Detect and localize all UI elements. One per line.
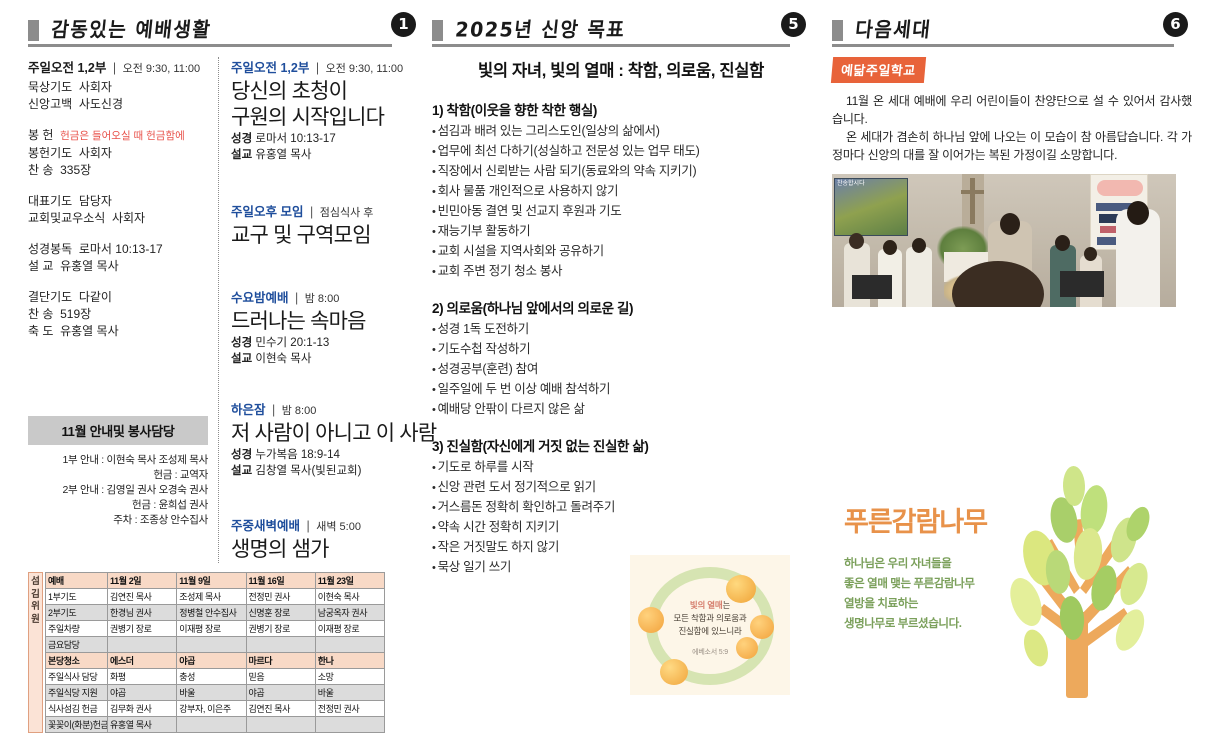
table-cell: 신명훈 장로 — [246, 605, 315, 621]
table-row: 식사섬김 헌금 김무화 권사 강부자, 이은주 김연진 목사 전정민 권사 — [46, 701, 385, 717]
section-title: 2025년 신앙 목표 — [454, 14, 627, 43]
orange-fruit-icon — [660, 659, 688, 685]
service-time: 밤 8:00 — [305, 293, 340, 305]
service-time: 오전 9:30, 11:00 — [326, 63, 404, 75]
table-header-cell: 11월 23일 — [315, 573, 384, 589]
service-label: 주일오전 1,2부 — [231, 61, 309, 75]
photo-child-head — [849, 233, 864, 249]
service-separator: | — [272, 403, 275, 417]
photo-child — [906, 247, 932, 307]
section-header-worship-life: 감동있는 예배생활 1 — [28, 0, 420, 44]
wreath-highlight: 빛의 열매 — [690, 600, 723, 610]
photo-child-head — [912, 238, 926, 253]
table-cell: 소망 — [315, 669, 384, 685]
green-olive-tree-banner: 푸른감람나무 하나님은 우리 자녀들을 좋은 열매 맺는 푸른감람나무 열방을 … — [832, 462, 1184, 698]
order-key: 신앙고백 — [28, 96, 72, 113]
sermon-label: 설교 — [231, 149, 252, 161]
duty-list: 1부 안내 : 이현숙 목사 조성제 목사 헌금 : 교역자 2부 안내 : 김… — [28, 453, 208, 528]
goal-item: 성경공부(훈련) 참여 — [432, 360, 810, 380]
goal-item: 예배당 안팎이 다르지 않은 삶 — [432, 400, 810, 420]
service-separator: | — [113, 61, 116, 75]
service-time: 오전 9:30, 11:00 — [123, 63, 201, 75]
table-cell: 전정민 권사 — [315, 701, 384, 717]
service-label: 하은잠 — [231, 403, 266, 417]
goal-item: 업무에 최선 다하기(성실하고 전문성 있는 업무 태도) — [432, 142, 810, 162]
section-divider — [432, 44, 790, 47]
order-key: 묵상기도 — [28, 79, 72, 96]
goal-item: 재능기부 활동하기 — [432, 222, 810, 242]
order-key: 봉 헌 — [28, 127, 53, 144]
order-value: 335장 — [60, 163, 91, 177]
table-cell: 에스더 — [108, 653, 177, 669]
table-header-cell: 11월 9일 — [177, 573, 246, 589]
table-cell: 마르다 — [246, 653, 315, 669]
goal-item: 약속 시간 정확히 지키기 — [432, 518, 810, 538]
service-time: 밤 8:00 — [282, 405, 317, 417]
sermon-entry: 수요밤예배 | 밤 8:00 드러나는 속마음 성경 민수기 20:1-13 설… — [231, 287, 398, 367]
sermon-value: 김창열 목사(빛된교회) — [255, 465, 361, 477]
sermon-label: 설교 — [231, 353, 252, 365]
banner-stripe — [1097, 180, 1143, 196]
table-cell: 1부기도 — [46, 589, 108, 605]
photo-child-head — [1055, 235, 1070, 251]
sermon-preacher: 설교 이현숙 목사 — [231, 351, 398, 367]
section-title: 감동있는 예배생활 — [50, 14, 213, 43]
sermon-entry: 주중새벽예배 | 새벽 5:00 생명의 샘가 — [231, 515, 398, 563]
tree-banner-line: 좋은 열매 맺는 푸른감람나무 — [844, 574, 975, 594]
sermon-value: 이현숙 목사 — [255, 353, 311, 365]
scripture-value: 로마서 10:13-17 — [255, 133, 335, 145]
table-row: 1부기도 김연진 목사 조성제 목사 전정민 권사 이현숙 목사 — [46, 589, 385, 605]
order-value: 사회자 — [79, 146, 112, 160]
table-cell — [108, 637, 177, 653]
scripture-label: 성경 — [231, 337, 252, 349]
table-cell: 조성제 목사 — [177, 589, 246, 605]
table-row: 주일차량 권병기 장로 이재평 장로 권병기 장로 이재평 장로 — [46, 621, 385, 637]
table-cell: 한나 — [315, 653, 384, 669]
worship-order-wrapper: 주일오전 1,2부 | 오전 9:30, 11:00 묵상기도 사회자 신앙고백… — [28, 57, 420, 577]
table-cell: 이재평 장로 — [315, 621, 384, 637]
order-row-offering: 봉 헌 헌금은 들어오실 때 헌금함에 — [28, 127, 208, 145]
duty-line: 헌금 : 윤희섭 권사 — [28, 498, 208, 513]
order-key: 성경봉독 — [28, 241, 72, 258]
order-row: 찬 송 335장 — [28, 162, 208, 179]
order-key: 찬 송 — [28, 162, 53, 179]
section-divider — [832, 44, 1174, 47]
sermon-title-line: 생명의 샘가 — [231, 537, 398, 563]
wreath-verse-ref: 에베소서 5:9 — [630, 646, 790, 659]
goal-block: 1) 착함(이웃을 향한 착한 행실) 섬김과 배려 있는 그리스도인(일상의 … — [432, 99, 810, 282]
table-cell — [315, 637, 384, 653]
order-row: 묵상기도 사회자 — [28, 79, 208, 96]
table-cell: 바울 — [315, 685, 384, 701]
table-header-row: 예배 11월 2일 11월 9일 11월 16일 11월 23일 — [46, 573, 385, 589]
sunday-school-tag: 예닮주일학교 — [831, 57, 926, 83]
order-row: 설 교 유홍열 목사 — [28, 258, 208, 275]
spacer — [28, 179, 208, 193]
spacer — [231, 479, 398, 515]
sermon-title-line: 드러나는 속마음 — [231, 309, 398, 335]
service-separator: | — [316, 61, 319, 75]
table-cell: 주일차량 — [46, 621, 108, 637]
bulletin-page: 감동있는 예배생활 1 주일오전 1,2부 | 오전 9:30, 11:00 묵… — [0, 0, 1209, 737]
table-cell: 권병기 장로 — [108, 621, 177, 637]
table-cell — [315, 717, 384, 733]
sermon-entry: 주일오후 모임 | 점심식사 후 교구 및 구역모임 — [231, 201, 398, 249]
spacer — [28, 275, 208, 289]
photo-guitarist-head — [1000, 213, 1020, 235]
order-value: 다같이 — [79, 290, 112, 304]
section-title: 다음세대 — [854, 14, 933, 43]
photo-music-stand — [1060, 271, 1104, 297]
order-key: 설 교 — [28, 258, 53, 275]
duty-line: 주차 : 조종상 안수집사 — [28, 513, 208, 528]
table-header-cell: 11월 2일 — [108, 573, 177, 589]
section-bar-icon — [832, 20, 843, 41]
sermon-title-list: 주일오전 1,2부 | 오전 9:30, 11:00 당신의 초청이 구원의 시… — [218, 57, 398, 563]
goal-item: 기도로 하루를 시작 — [432, 458, 810, 478]
sermon-scripture: 성경 누가복음 18:9-14 — [231, 447, 398, 463]
goal-item: 직장에서 신뢰받는 사람 되기(동료와의 약속 지키기) — [432, 162, 810, 182]
service-label: 주중새벽예배 — [231, 519, 300, 533]
table-cell — [246, 637, 315, 653]
order-value: 사회자 — [112, 211, 145, 225]
sermon-entry: 주일오전 1,2부 | 오전 9:30, 11:00 당신의 초청이 구원의 시… — [231, 57, 398, 163]
service-heading-sunday-main: 주일오전 1,2부 | 오전 9:30, 11:00 — [28, 57, 208, 76]
table-cell: 금요담당 — [46, 637, 108, 653]
children-choir-photo: 찬송합시다 — [832, 174, 1176, 307]
sermon-title-line: 저 사람이 아니고 이 사람 — [231, 421, 398, 447]
table-cell: 이재평 장로 — [177, 621, 246, 637]
table-cell: 강부자, 이은주 — [177, 701, 246, 717]
olive-tree-icon — [978, 462, 1178, 698]
goal-item: 회사 물품 개인적으로 사용하지 않기 — [432, 182, 810, 202]
service-separator: | — [307, 519, 310, 533]
spacer — [28, 227, 208, 241]
duty-banner: 11월 안내및 봉사담당 — [28, 416, 208, 445]
sermon-title-line: 구원의 시작입니다 — [231, 105, 398, 131]
table-cell: 믿음 — [246, 669, 315, 685]
sermon-preacher: 설교 김창열 목사(빛된교회) — [231, 463, 398, 479]
order-value: 유홍열 목사 — [60, 324, 119, 338]
goal-item: 빈민아동 결연 및 선교지 후원과 기도 — [432, 202, 810, 222]
order-row: 결단기도 다같이 — [28, 289, 208, 306]
goal-item: 성경 1독 도전하기 — [432, 320, 810, 340]
order-value: 담당자 — [79, 194, 112, 208]
tree-banner-line: 생명나무로 부르셨습니다. — [844, 614, 975, 634]
duty-line: 1부 안내 : 이현숙 목사 조성제 목사 — [28, 453, 208, 468]
sermon-scripture: 성경 민수기 20:1-13 — [231, 335, 398, 351]
order-value: 사도신경 — [79, 97, 123, 111]
table-cell: 야곱 — [108, 685, 177, 701]
service-heading: 하은잠 | 밤 8:00 — [231, 399, 398, 418]
goal-block: 2) 의로움(하나님 앞에서의 의로운 길) 성경 1독 도전하기 기도수첩 작… — [432, 297, 810, 420]
service-heading: 주일오후 모임 | 점심식사 후 — [231, 201, 398, 220]
order-key: 교회및교우소식 — [28, 210, 105, 227]
order-value: 로마서 10:13-17 — [79, 242, 163, 256]
faith-goals-headline: 빛의 자녀, 빛의 열매 : 착함, 의로움, 진실함 — [432, 57, 810, 81]
table-cell: 바울 — [177, 685, 246, 701]
scripture-value: 민수기 20:1-13 — [255, 337, 329, 349]
photo-singer-head — [1127, 201, 1149, 225]
table-cell: 김무화 권사 — [108, 701, 177, 717]
table-cell: 권병기 장로 — [246, 621, 315, 637]
next-gen-paragraph: 온 세대가 겸손히 하나님 앞에 나오는 이 모습이 참 아름답습니다. 각 가… — [832, 128, 1192, 164]
spacer — [28, 340, 208, 416]
table-cell: 주일식사 담당 — [46, 669, 108, 685]
goal-item: 신앙 관련 도서 정기적으로 읽기 — [432, 478, 810, 498]
photo-projector-screen: 찬송합시다 — [834, 178, 908, 236]
table-cell: 한경님 권사 — [108, 605, 177, 621]
table-cell: 남궁옥자 권사 — [315, 605, 384, 621]
order-value: 유홍열 목사 — [60, 259, 119, 273]
service-heading: 주중새벽예배 | 새벽 5:00 — [231, 515, 398, 534]
table-header-cell: 예배 — [46, 573, 108, 589]
order-key: 결단기도 — [28, 289, 72, 306]
table-cell: 야곱 — [177, 653, 246, 669]
goal-heading: 3) 진실함(자신에게 거짓 없는 진실한 삶) — [432, 435, 810, 455]
table-cell — [177, 637, 246, 653]
sunday-school-tag-wrapper: 예닮주일학교 — [832, 57, 1192, 83]
wreath-line-3: 진실함에 있느니라 — [630, 625, 790, 638]
photo-music-stand — [852, 275, 892, 299]
column-faith-goals: 2025년 신앙 목표 5 빛의 자녀, 빛의 열매 : 착함, 의로움, 진실… — [432, 0, 810, 737]
spacer — [231, 367, 398, 399]
scripture-label: 성경 — [231, 133, 252, 145]
table-cell — [246, 717, 315, 733]
table-header-cell: 11월 16일 — [246, 573, 315, 589]
order-value: 사회자 — [79, 80, 112, 94]
table-row: 주일식당 지원 야곱 바울 야곱 바울 — [46, 685, 385, 701]
order-row: 찬 송 519장 — [28, 306, 208, 323]
sermon-title-line: 교구 및 구역모임 — [231, 223, 398, 249]
photo-child-head — [883, 240, 897, 255]
service-label: 주일오후 모임 — [231, 205, 303, 219]
service-time: 새벽 5:00 — [316, 521, 361, 533]
table-row: 금요담당 — [46, 637, 385, 653]
section-header-faith-goals: 2025년 신앙 목표 5 — [432, 0, 810, 44]
tree-banner-heading: 푸른감람나무 — [844, 500, 987, 539]
table-cell: 2부기도 — [46, 605, 108, 621]
table-vertical-label: 섬김위원 — [28, 572, 43, 733]
service-time: 점심식사 후 — [320, 207, 374, 219]
service-label: 주일오전 1,2부 — [28, 61, 106, 75]
sermon-entry: 하은잠 | 밤 8:00 저 사람이 아니고 이 사람 성경 누가복음 18:9… — [231, 399, 398, 479]
table-row: 본당청소 에스더 야곱 마르다 한나 — [46, 653, 385, 669]
photo-screen-caption: 찬송합시다 — [837, 178, 865, 187]
scripture-value: 누가복음 18:9-14 — [255, 449, 340, 461]
table-cell: 화평 — [108, 669, 177, 685]
wreath-verse-text: 빛의 열매는 모든 착함과 의로움과 진실함에 있느니라 에베소서 5:9 — [630, 599, 790, 659]
goal-item: 거스름돈 정확히 확인하고 돌려주기 — [432, 498, 810, 518]
page-number-badge: 1 — [391, 12, 416, 37]
order-key: 축 도 — [28, 323, 53, 340]
goal-heading: 2) 의로움(하나님 앞에서의 의로운 길) — [432, 297, 810, 317]
tree-banner-line: 열방을 치료하는 — [844, 594, 975, 614]
service-label: 수요밤예배 — [231, 291, 289, 305]
duty-line: 2부 안내 : 김영일 권사 오경숙 권사 — [28, 483, 208, 498]
order-row: 봉헌기도 사회자 — [28, 145, 208, 162]
order-key: 찬 송 — [28, 306, 53, 323]
wreath-line-2: 모든 착함과 의로움과 — [630, 612, 790, 625]
service-separator: | — [295, 291, 298, 305]
next-gen-paragraph: 11월 온 세대 예배에 우리 어린이들이 찬양단으로 설 수 있어서 감사했습… — [832, 92, 1192, 128]
sermon-preacher: 설교 유홍열 목사 — [231, 147, 398, 163]
tree-banner-line: 하나님은 우리 자녀들을 — [844, 554, 975, 574]
service-duty-table-wrapper: 섬김위원 예배 11월 2일 11월 9일 11월 16일 11월 23일 1부… — [28, 572, 388, 733]
section-bar-icon — [432, 20, 443, 41]
sermon-label: 설교 — [231, 465, 252, 477]
spacer — [28, 113, 208, 127]
service-heading: 주일오전 1,2부 | 오전 9:30, 11:00 — [231, 57, 398, 76]
table-cell: 충성 — [177, 669, 246, 685]
scripture-label: 성경 — [231, 449, 252, 461]
page-number-badge: 5 — [781, 12, 806, 37]
sermon-value: 유홍열 목사 — [255, 149, 311, 161]
section-divider — [28, 44, 392, 47]
table-cell: 김연진 목사 — [246, 701, 315, 717]
service-heading: 수요밤예배 | 밤 8:00 — [231, 287, 398, 306]
table-cell: 꽃꽂이(화분)헌금 — [46, 717, 108, 733]
order-row: 교회및교우소식 사회자 — [28, 210, 208, 227]
order-row: 신앙고백 사도신경 — [28, 96, 208, 113]
goal-item: 일주일에 두 번 이상 예배 참석하기 — [432, 380, 810, 400]
section-bar-icon — [28, 20, 39, 41]
light-fruit-wreath-image: 빛의 열매는 모든 착함과 의로움과 진실함에 있느니라 에베소서 5:9 — [630, 555, 790, 695]
sermon-title-line: 당신의 초청이 — [231, 79, 398, 105]
table-cell: 식사섬김 헌금 — [46, 701, 108, 717]
table-row: 2부기도 한경님 권사 정병철 안수집사 신명훈 장로 남궁옥자 권사 — [46, 605, 385, 621]
duty-line: 헌금 : 교역자 — [28, 468, 208, 483]
table-row: 꽃꽂이(화분)헌금 유홍열 목사 — [46, 717, 385, 733]
table-cell: 본당청소 — [46, 653, 108, 669]
page-number-badge: 6 — [1163, 12, 1188, 37]
goal-item: 교회 시설을 지역사회와 공유하기 — [432, 242, 810, 262]
cross-icon — [970, 178, 975, 224]
table-cell: 김연진 목사 — [108, 589, 177, 605]
table-cell — [177, 717, 246, 733]
order-of-service-list: 주일오전 1,2부 | 오전 9:30, 11:00 묵상기도 사회자 신앙고백… — [28, 57, 208, 528]
table-cell: 이현숙 목사 — [315, 589, 384, 605]
table-cell: 주일식당 지원 — [46, 685, 108, 701]
goal-item: 섬김과 배려 있는 그리스도인(일상의 삶에서) — [432, 122, 810, 142]
order-value: 519장 — [60, 307, 91, 321]
order-key: 봉헌기도 — [28, 145, 72, 162]
sermon-scripture: 성경 로마서 10:13-17 — [231, 131, 398, 147]
tree-banner-lines: 하나님은 우리 자녀들을 좋은 열매 맺는 푸른감람나무 열방을 치료하는 생명… — [844, 554, 975, 634]
column-next-generation: 다음세대 6 예닮주일학교 11월 온 세대 예배에 우리 어린이들이 찬양단으… — [832, 0, 1192, 737]
photo-child-head — [1084, 247, 1097, 261]
order-row: 축 도 유홍열 목사 — [28, 323, 208, 340]
table-cell: 전정민 권사 — [246, 589, 315, 605]
order-row: 성경봉독 로마서 10:13-17 — [28, 241, 208, 258]
table-row: 주일식사 담당 화평 충성 믿음 소망 — [46, 669, 385, 685]
wreath-line-1: 빛의 열매는 — [630, 599, 790, 612]
goal-heading: 1) 착함(이웃을 향한 착한 행실) — [432, 99, 810, 119]
service-duty-table: 예배 11월 2일 11월 9일 11월 16일 11월 23일 1부기도 김연… — [45, 572, 385, 733]
table-cell: 정병철 안수집사 — [177, 605, 246, 621]
column-worship-life: 감동있는 예배생활 1 주일오전 1,2부 | 오전 9:30, 11:00 묵… — [28, 0, 420, 737]
spacer — [231, 163, 398, 201]
goal-item: 교회 주변 정기 청소 봉사 — [432, 262, 810, 282]
table-cell: 유홍열 목사 — [108, 717, 177, 733]
order-key: 대표기도 — [28, 193, 72, 210]
table-cell: 야곱 — [246, 685, 315, 701]
offering-note: 헌금은 들어오실 때 헌금함에 — [60, 130, 185, 142]
wreath-line1-rest: 는 — [723, 600, 731, 610]
order-row: 대표기도 담당자 — [28, 193, 208, 210]
goal-item: 기도수첩 작성하기 — [432, 340, 810, 360]
section-header-next-generation: 다음세대 6 — [832, 0, 1192, 44]
service-separator: | — [310, 205, 313, 219]
spacer — [231, 249, 398, 287]
